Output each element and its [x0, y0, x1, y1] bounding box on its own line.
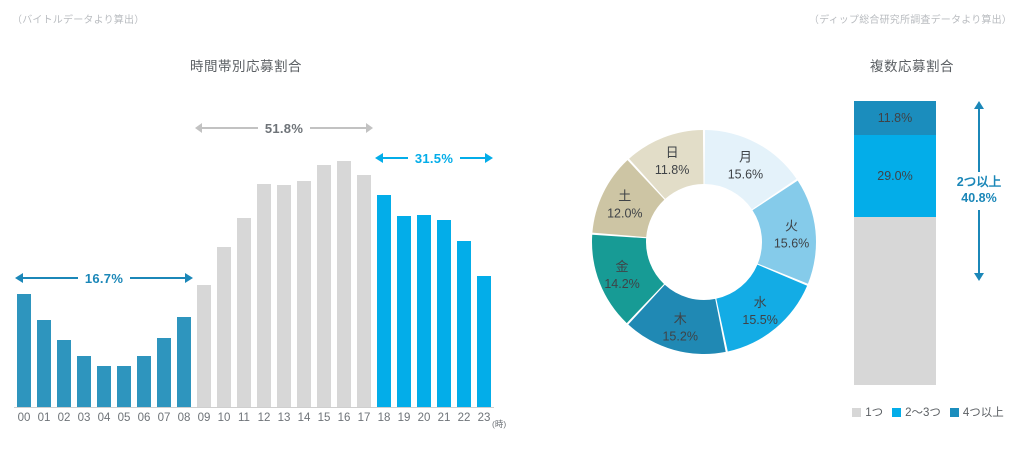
legend-label: 1つ	[865, 404, 883, 420]
legend-label: 2〜3つ	[905, 404, 941, 420]
donut-slice-value-土: 12.0%	[607, 207, 642, 221]
donut-slice-name-火: 火	[785, 218, 798, 233]
annotation-rule	[130, 277, 185, 279]
bar-09	[197, 285, 211, 408]
x-label-11: 11	[234, 412, 254, 424]
x-label-03: 03	[74, 412, 94, 424]
x-label-07: 07	[154, 412, 174, 424]
legend-item-2〜3つ[interactable]: 2〜3つ	[892, 404, 941, 420]
x-label-04: 04	[94, 412, 114, 424]
x-label-17: 17	[354, 412, 374, 424]
bar-07	[157, 338, 171, 408]
bar-18	[377, 195, 391, 408]
arrow-right-icon	[366, 123, 373, 133]
bar-06	[137, 356, 151, 408]
annotation-line1: 2つ以上	[957, 175, 1001, 189]
bar-05	[117, 366, 131, 408]
bar-23	[477, 276, 491, 409]
donut-plot-area: 月15.6%火15.6%水15.5%木15.2%金14.2%土12.0%日11.…	[584, 122, 824, 362]
legend-swatch	[950, 408, 959, 417]
donut-slice-name-金: 金	[616, 259, 629, 274]
x-label-01: 01	[34, 412, 54, 424]
annotation-line-top	[978, 109, 980, 172]
annotation-label: 16.7%	[78, 271, 130, 286]
arrow-up-icon	[974, 101, 984, 109]
donut-slice-value-火: 15.6%	[774, 236, 809, 250]
donut-slice-name-土: 土	[618, 189, 631, 204]
x-label-19: 19	[394, 412, 414, 424]
bar-15	[317, 165, 331, 408]
donut-svg: 月15.6%火15.6%水15.5%木15.2%金14.2%土12.0%日11.…	[584, 122, 824, 362]
annotation-label: 31.5%	[408, 151, 460, 166]
arrow-left-icon	[195, 123, 202, 133]
stacked-chart-legend: 1つ2〜3つ4つ以上	[830, 404, 1024, 420]
x-label-20: 20	[414, 412, 434, 424]
bar-17	[357, 175, 371, 408]
bar-12	[257, 184, 271, 408]
x-label-13: 13	[274, 412, 294, 424]
bar-16	[337, 161, 351, 408]
legend-swatch	[892, 408, 901, 417]
donut-slice-value-月: 15.6%	[728, 167, 763, 181]
legend-item-4つ以上[interactable]: 4つ以上	[950, 404, 1004, 420]
bar-08	[177, 317, 191, 408]
donut-slice-name-日: 日	[666, 145, 679, 160]
bar-chart-x-axis-labels: 0001020304050607080910111213141516171819…	[14, 412, 500, 434]
bar-00	[17, 294, 31, 408]
bar-10	[217, 247, 231, 408]
donut-slice-value-金: 14.2%	[604, 277, 639, 291]
stack-segment-label: 11.8%	[878, 111, 913, 125]
bar-11	[237, 218, 251, 408]
bar-02	[57, 340, 71, 408]
bar-04	[97, 366, 111, 408]
stack-segment-1つ[interactable]	[854, 217, 936, 385]
bar-20	[417, 215, 431, 408]
bar-14	[297, 181, 311, 408]
donut-slice-value-水: 15.5%	[742, 313, 777, 327]
stacked-bar-annotation: 2つ以上40.8%	[942, 101, 1016, 281]
x-label-06: 06	[134, 412, 154, 424]
range-annotation-16.7: 16.7%	[15, 268, 193, 288]
donut-slice-name-水: 水	[754, 295, 767, 310]
stack-segment-label: 29.0%	[877, 169, 912, 183]
arrow-left-icon	[375, 153, 383, 163]
stacked-chart-title: 複数応募割合	[870, 55, 954, 75]
arrow-right-icon	[185, 273, 193, 283]
x-label-02: 02	[54, 412, 74, 424]
legend-swatch	[852, 408, 861, 417]
annotation-rule	[23, 277, 78, 279]
legend-label: 4つ以上	[963, 404, 1004, 420]
x-label-14: 14	[294, 412, 314, 424]
bar-chart-axis-line	[14, 407, 494, 408]
donut-slice-name-木: 木	[674, 312, 687, 327]
bar-13	[277, 185, 291, 408]
bar-chart-title: 時間帯別応募割合	[190, 55, 302, 75]
annotation-line2: 40.8%	[961, 191, 996, 205]
infographic-page: （バイトルデータより算出） （ディップ総合研究所調査データより算出） 時間帯別応…	[0, 0, 1024, 452]
x-label-00: 00	[14, 412, 34, 424]
x-label-23: 23	[474, 412, 494, 424]
stacked-bar: 11.8%29.0%	[854, 101, 936, 385]
annotation-rule	[310, 127, 366, 129]
annotation-label: 51.8%	[258, 121, 310, 136]
annotation-rule	[202, 127, 258, 129]
x-label-10: 10	[214, 412, 234, 424]
annotation-text: 2つ以上40.8%	[957, 172, 1001, 209]
weekday-application-donut-chart: 曜日別応募割合 月15.6%火15.6%水15.5%木15.2%金14.2%土1…	[512, 0, 812, 452]
annotation-rule	[460, 157, 485, 159]
x-label-18: 18	[374, 412, 394, 424]
bar-21	[437, 220, 451, 408]
donut-slice-value-木: 15.2%	[662, 330, 697, 344]
arrow-right-icon	[485, 153, 493, 163]
donut-slice-value-日: 11.8%	[655, 163, 690, 177]
stack-segment-2〜3つ[interactable]: 29.0%	[854, 135, 936, 217]
x-label-16: 16	[334, 412, 354, 424]
annotation-rule	[383, 157, 408, 159]
multiple-application-stacked-chart: 複数応募割合 11.8%29.0% 2つ以上40.8% 1つ2〜3つ4つ以上	[812, 0, 1024, 452]
x-axis-unit-label: (時)	[492, 418, 506, 430]
annotation-line-bottom	[978, 210, 980, 273]
x-label-12: 12	[254, 412, 274, 424]
arrow-down-icon	[974, 273, 984, 281]
bar-19	[397, 216, 411, 408]
x-label-22: 22	[454, 412, 474, 424]
legend-item-1つ[interactable]: 1つ	[852, 404, 883, 420]
x-label-09: 09	[194, 412, 214, 424]
range-annotation-31.5: 31.5%	[375, 148, 493, 168]
hourly-application-bar-chart: 時間帯別応募割合 0001020304050607080910111213141…	[0, 0, 512, 452]
x-label-05: 05	[114, 412, 134, 424]
x-label-08: 08	[174, 412, 194, 424]
arrow-left-icon	[15, 273, 23, 283]
stack-segment-4つ以上[interactable]: 11.8%	[854, 101, 936, 135]
donut-slice-name-月: 月	[739, 149, 752, 164]
x-label-21: 21	[434, 412, 454, 424]
bar-22	[457, 241, 471, 409]
range-annotation-51.8: 51.8%	[195, 118, 373, 138]
bar-03	[77, 356, 91, 408]
x-label-15: 15	[314, 412, 334, 424]
bar-01	[37, 320, 51, 408]
